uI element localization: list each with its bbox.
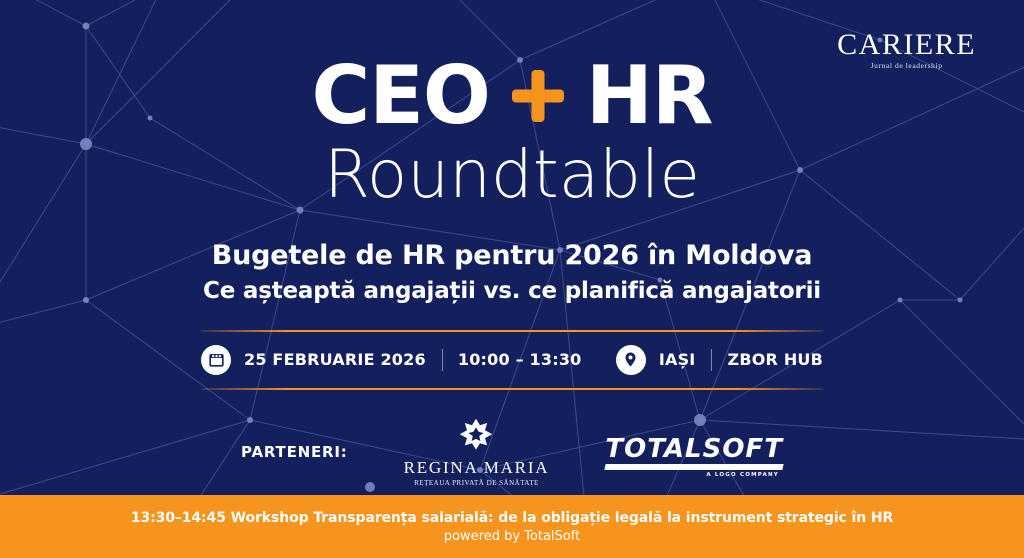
calendar-icon: [201, 345, 231, 375]
event-details-bar: 25 FEBRUARIE 2026 10:00 – 13:30 IAȘI: [201, 330, 823, 390]
partner-logo-regina-maria: REGINA MARIA REȚEAUA PRIVATĂ DE SĂNĂTATE: [404, 418, 550, 487]
location-group: IAȘI: [616, 345, 696, 375]
partner-tagline-regina-maria: REȚEAUA PRIVATĂ DE SĂNĂTATE: [404, 479, 550, 487]
partner-tagline-totalsoft: A LOGO COMPANY: [605, 472, 783, 478]
event-date: 25 FEBRUARIE 2026: [244, 350, 426, 369]
headline-word-hr: HR: [586, 56, 713, 136]
footer-workshop-bar: 13:30–14:45 Workshop Transparența salari…: [0, 495, 1024, 558]
totalsoft-underline: [605, 464, 784, 470]
partner-logo-totalsoft: TOTALSOFT A LOGO COMPANY: [605, 426, 783, 478]
headline-word-ceo: CEO: [312, 56, 490, 136]
date-group: 25 FEBRUARIE 2026: [201, 345, 426, 375]
event-banner: CARIERE Jurnal de leadership CEO HR Roun…: [0, 0, 1024, 558]
footer-powered-by: powered by TotalSoft: [444, 529, 580, 544]
subtitle-line-secondary: Ce așteaptă angajații vs. ce planifică a…: [203, 277, 821, 306]
footer-workshop-text: 13:30–14:45 Workshop Transparența salari…: [131, 510, 893, 526]
eight-pointed-star-icon: [458, 418, 494, 454]
partner-name-totalsoft: TOTALSOFT: [605, 436, 783, 462]
event-subtitle: Bugetele de HR pentru 2026 în Moldova Ce…: [203, 239, 821, 306]
divider-bottom: [201, 388, 823, 390]
partners-section: PARTENERI: REGINA MARIA REȚEAUA PRIVATĂ …: [241, 418, 783, 487]
event-venue: ZBOR HUB: [728, 350, 823, 369]
event-time: 10:00 – 13:30: [458, 350, 582, 369]
cariere-logo-name: CARIERE: [837, 30, 976, 60]
subtitle-line-primary: Bugetele de HR pentru 2026 în Moldova: [203, 239, 821, 273]
event-city: IAȘI: [659, 350, 696, 369]
cariere-logo-tagline: Jurnal de leadership: [837, 61, 976, 70]
partners-label: PARTENERI:: [241, 443, 348, 461]
cariere-logo: CARIERE Jurnal de leadership: [837, 30, 976, 70]
partner-name-regina-maria: REGINA MARIA: [404, 459, 550, 476]
headline-roundtable: Roundtable: [324, 140, 700, 209]
plus-icon: [512, 70, 564, 122]
main-headline: CEO HR: [312, 56, 713, 136]
location-pin-icon: [616, 345, 646, 375]
